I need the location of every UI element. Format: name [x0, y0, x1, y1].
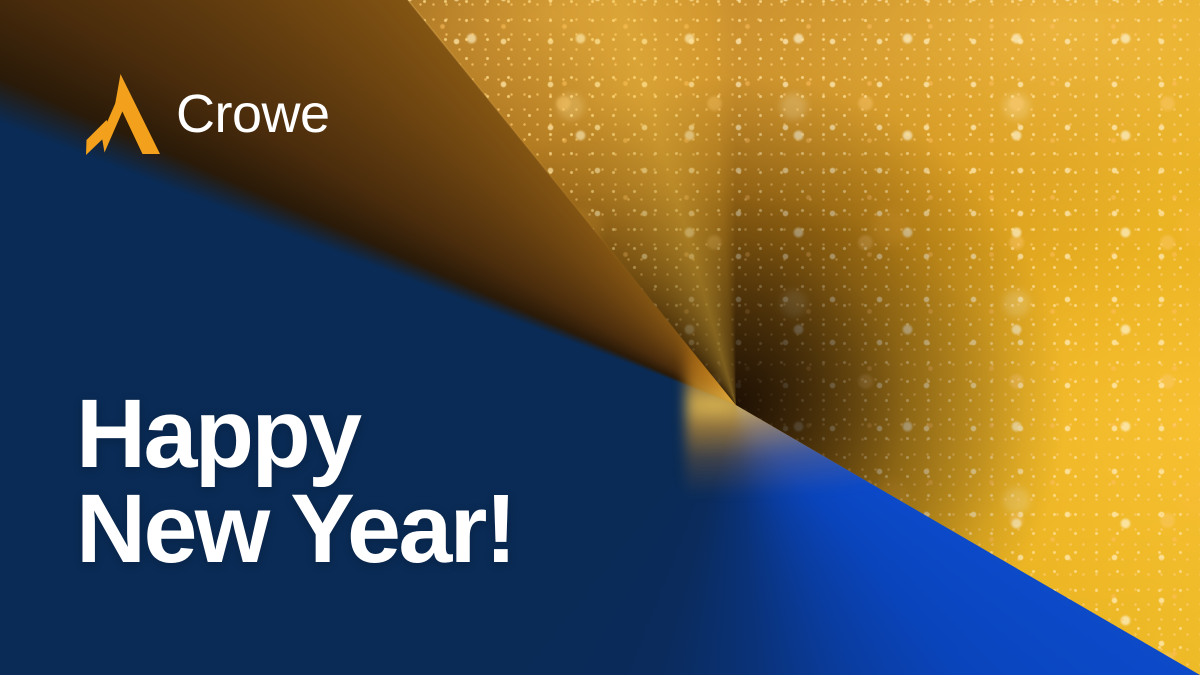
crowe-logo-lockup[interactable]: Crowe: [80, 74, 330, 156]
headline-line-1: Happy: [76, 379, 359, 488]
page-title: Happy New Year!: [76, 386, 515, 576]
greeting-card-canvas: Crowe Happy New Year!: [0, 0, 1200, 675]
crowe-wordmark: Crowe: [176, 87, 330, 141]
headline-line-2: New Year!: [76, 481, 515, 576]
crowe-chevron-mark-icon: [80, 74, 160, 156]
